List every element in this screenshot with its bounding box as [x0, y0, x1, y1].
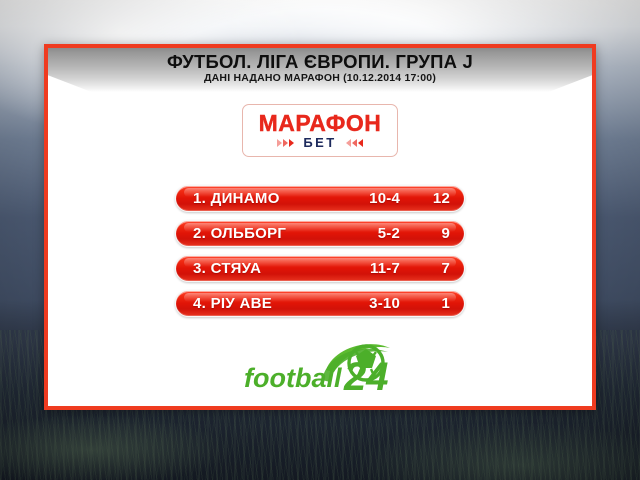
chevron-left-decor-icon [277, 139, 294, 147]
team-goals: 5-2 [338, 225, 400, 242]
standings-panel: ФУТБОЛ. ЛІГА ЄВРОПИ. ГРУПА J ДАНІ НАДАНО… [44, 44, 596, 410]
team-points: 9 [400, 225, 464, 242]
team-goals: 3-10 [338, 295, 400, 312]
chevron-right-decor-icon [346, 139, 363, 147]
broadcast-graphic: ФУТБОЛ. ЛІГА ЄВРОПИ. ГРУПА J ДАНІ НАДАНО… [0, 0, 640, 480]
table-row[interactable]: 2. ОЛЬБОРГ 5-2 9 [175, 220, 465, 247]
team-goals: 10-4 [338, 190, 400, 207]
team-name: 4. РІУ АВЕ [176, 295, 338, 312]
header-text-group: ФУТБОЛ. ЛІГА ЄВРОПИ. ГРУПА J ДАНІ НАДАНО… [48, 48, 592, 92]
sponsor-name: МАРАФОН [259, 111, 382, 135]
team-points: 12 [400, 190, 464, 207]
sponsor-tagline: БЕТ [303, 136, 336, 150]
team-goals: 11-7 [338, 260, 400, 277]
team-name: 3. СТЯУА [176, 260, 338, 277]
team-points: 1 [400, 295, 464, 312]
table-row[interactable]: 3. СТЯУА 11-7 7 [175, 255, 465, 282]
team-name: 1. ДИНАМО [176, 190, 338, 207]
standings-table: 1. ДИНАМО 10-4 12 2. ОЛЬБОРГ 5-2 9 3. СТ… [48, 185, 592, 325]
brand-word: football [244, 363, 342, 393]
sponsor-tagline-row: БЕТ [277, 136, 362, 150]
team-name: 2. ОЛЬБОРГ [176, 225, 338, 242]
page-title: ФУТБОЛ. ЛІГА ЄВРОПИ. ГРУПА J [167, 51, 473, 72]
team-points: 7 [400, 260, 464, 277]
brand-logo-football24[interactable]: football 24 [230, 336, 410, 398]
table-row[interactable]: 1. ДИНАМО 10-4 12 [175, 185, 465, 212]
sponsor-logo-marathonbet[interactable]: МАРАФОН БЕТ [242, 104, 398, 157]
table-row[interactable]: 4. РІУ АВЕ 3-10 1 [175, 290, 465, 317]
brand-number: 24 [343, 355, 389, 398]
data-source-note: ДАНІ НАДАНО МАРАФОН (10.12.2014 17:00) [204, 72, 436, 85]
football24-logo-icon: football 24 [230, 336, 410, 398]
